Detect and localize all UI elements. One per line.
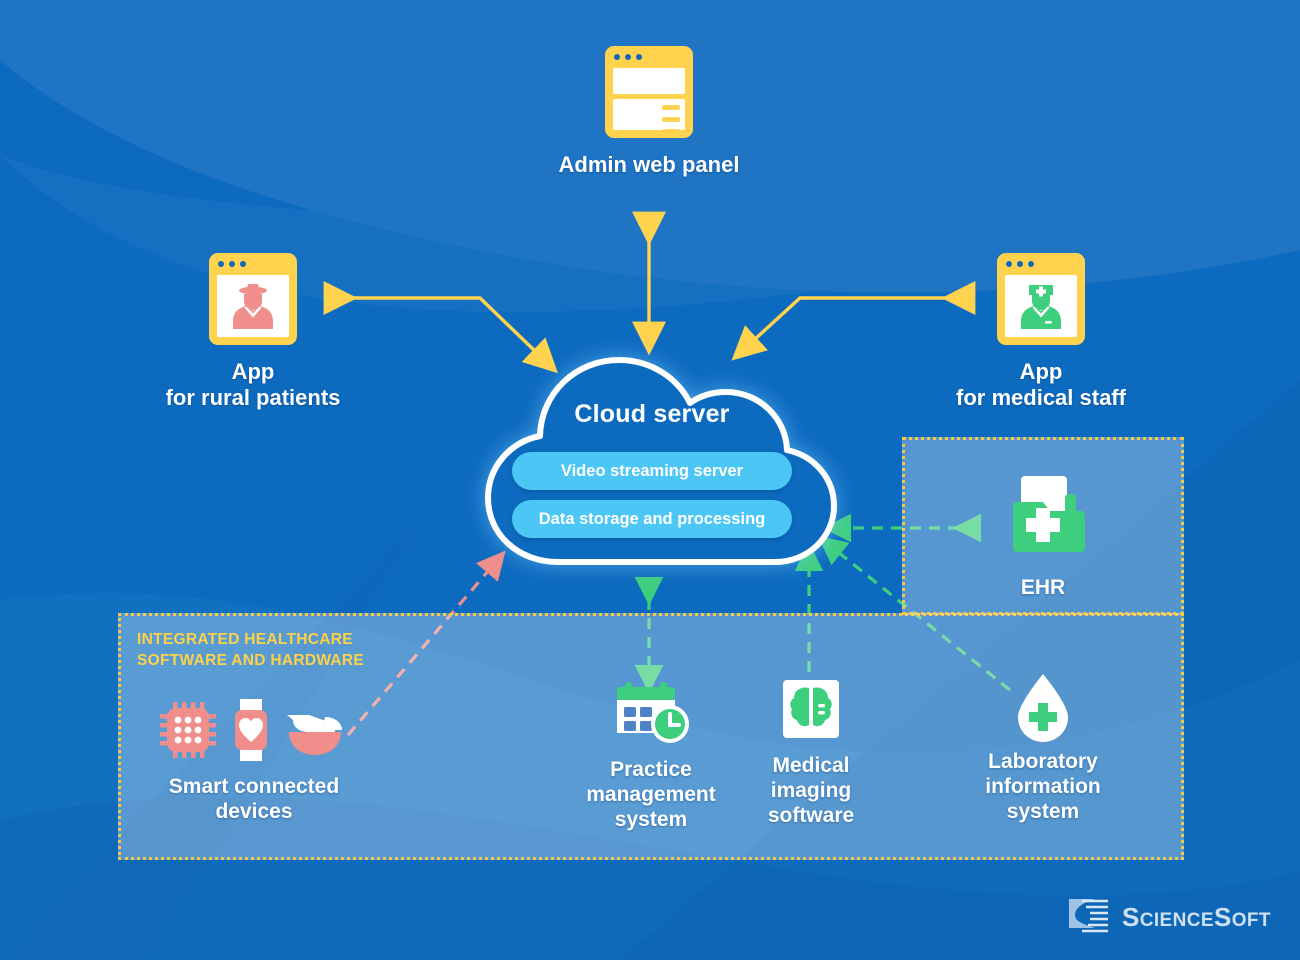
ehr-node[interactable]: EHR [943,470,1143,601]
farmer-avatar-icon [227,281,279,331]
window-dots-icon [218,261,246,267]
medical-staff-app-node[interactable]: App for medical staff [941,253,1141,411]
sciencesoft-logo-mark [1066,894,1112,940]
cloud-service-video-streaming[interactable]: Video streaming server [512,452,792,490]
cloud-service-data-storage[interactable]: Data storage and processing [512,500,792,538]
medical-imaging-label: Medical imaging software [711,754,911,828]
logo-text-cience: CIENCE [1140,910,1214,931]
logo-text-s2: S [1214,902,1232,932]
chip-icon [159,700,217,760]
laboratory-node[interactable]: Laboratory information system [943,672,1143,824]
diagram-canvas: INTEGRATED HEALTHCARE SOFTWARE AND HARDW… [0,0,1300,960]
window-dots-icon [1006,261,1034,267]
doctor-avatar-icon [1015,281,1067,331]
calendar-clock-icon [611,678,691,748]
smart-connected-devices-node[interactable]: Smart connected devices [154,697,354,825]
rural-app-screen [217,275,289,337]
medical-folder-icon [993,470,1093,570]
arrow-cloud-staff-app [754,298,972,340]
sciencesoft-logo-text: SCIENCESOFT [1122,902,1271,933]
browser-window-icon [997,253,1085,345]
smart-connected-devices-label: Smart connected devices [154,775,354,825]
smartwatch-heart-icon [231,699,271,761]
integrated-healthcare-panel-title: INTEGRATED HEALTHCARE SOFTWARE AND HARDW… [137,630,364,672]
cloud-server-node[interactable]: Cloud server Video streaming server Data… [462,336,842,576]
admin-web-panel-node[interactable]: Admin web panel [549,46,749,178]
brain-scan-icon [773,678,849,744]
window-dots-icon [614,54,642,60]
logo-text-oft: OFT [1232,910,1271,931]
admin-panel-header-bar [613,68,685,94]
medical-staff-app-label: App for medical staff [941,359,1141,411]
admin-panel-sidebar-list [657,99,685,130]
logo-text-s1: S [1122,902,1140,932]
staff-app-screen [1005,275,1077,337]
cloud-server-title: Cloud server [462,400,842,429]
ehr-label: EHR [943,576,1143,601]
browser-window-icon [605,46,693,138]
sciencesoft-logo: SCIENCESOFT [1066,891,1276,943]
blood-drop-cross-icon [1012,672,1074,746]
rural-patients-app-label: App for rural patients [153,359,353,411]
medical-imaging-node[interactable]: Medical imaging software [711,678,911,828]
rural-patients-app-node[interactable]: App for rural patients [153,253,353,411]
laboratory-label: Laboratory information system [943,750,1143,824]
inhaler-icon [285,701,349,759]
admin-web-panel-label: Admin web panel [549,152,749,178]
browser-window-icon [209,253,297,345]
